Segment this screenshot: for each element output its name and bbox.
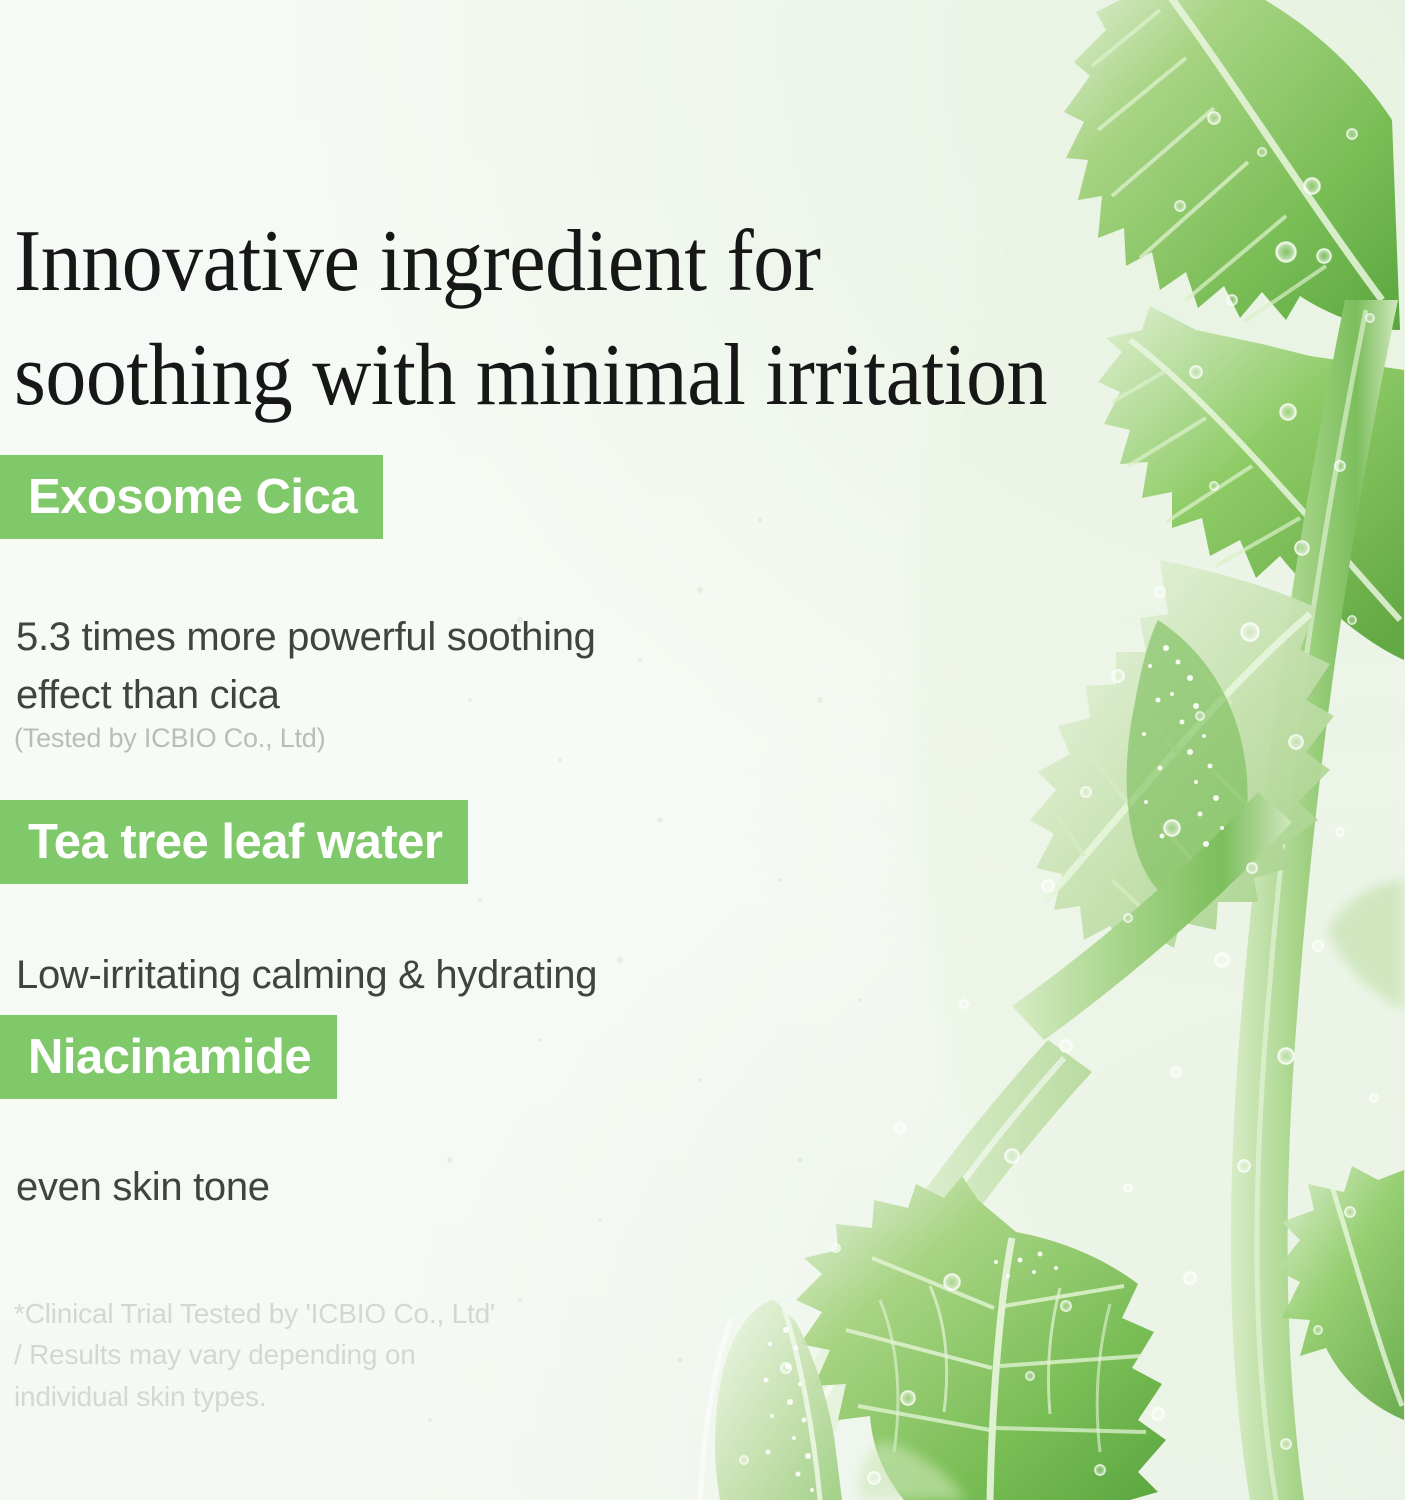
ingredient-tag-tea-tree-leaf-water: Tea tree leaf water: [0, 800, 468, 884]
page-headline: Innovative ingredient for soothing with …: [14, 205, 1223, 434]
ingredient-benefit-tea-tree-leaf-water: Low-irritating calming & hydrating: [16, 946, 597, 1004]
ingredient-benefit-exosome-cica: 5.3 times more powerful soothing effect …: [16, 608, 596, 724]
content-column: Innovative ingredient for soothing with …: [0, 0, 1405, 1500]
product-ingredient-infographic: Innovative ingredient for soothing with …: [0, 0, 1405, 1500]
clinical-trial-disclaimer: *Clinical Trial Tested by 'ICBIO Co., Lt…: [14, 1293, 495, 1417]
ingredient-caption-exosome-cica: (Tested by ICBIO Co., Ltd): [14, 721, 325, 756]
ingredient-tag-exosome-cica: Exosome Cica: [0, 455, 383, 539]
ingredient-tag-niacinamide: Niacinamide: [0, 1015, 337, 1099]
ingredient-benefit-niacinamide: even skin tone: [16, 1158, 270, 1216]
